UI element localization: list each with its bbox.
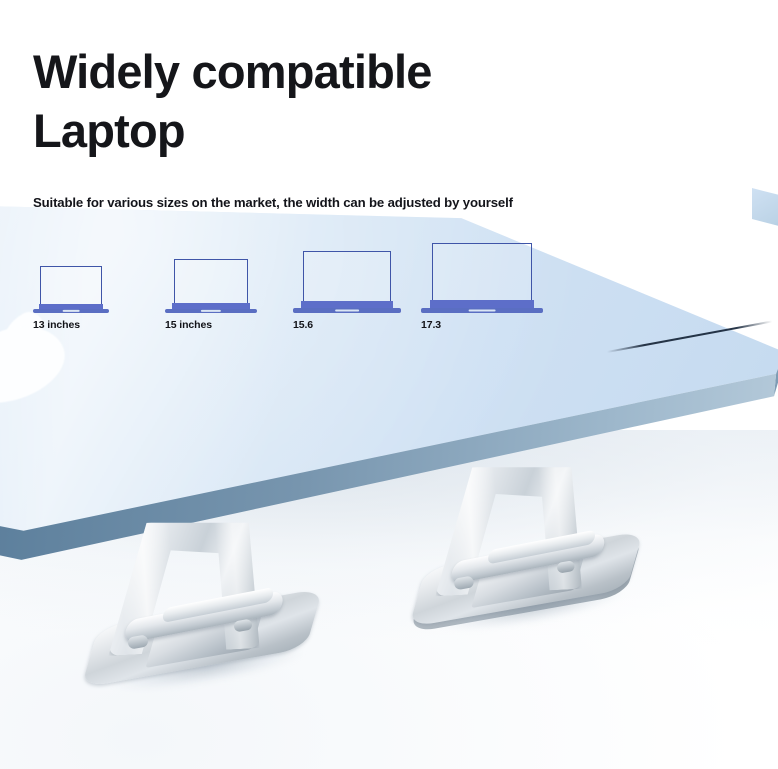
page-subtitle: Suitable for various sizes on the market…: [33, 195, 513, 210]
laptop-size-label: 17.3: [421, 319, 441, 331]
laptop-icon-base: [165, 309, 257, 313]
laptop-size-item: 15.6: [293, 251, 401, 331]
laptop-icon-screen: [432, 243, 532, 300]
laptop-icon: [421, 243, 543, 313]
laptop-icon-screen: [40, 266, 102, 304]
laptop-stand-right: [415, 465, 638, 632]
laptop-icon-base: [293, 308, 401, 313]
laptop-icon-base: [421, 308, 543, 313]
laptop-icon-screen: [303, 251, 391, 301]
product-image-stage: Widely compatible Laptop Suitable for va…: [0, 0, 778, 769]
laptop-icon: [165, 259, 257, 313]
laptop-stand-left: [88, 520, 328, 700]
laptop-size-list: 13 inches15 inches15.617.3: [33, 243, 543, 331]
laptop-icon-base: [33, 309, 109, 313]
laptop-icon-deck: [430, 300, 534, 308]
laptop-size-label: 15 inches: [165, 319, 212, 331]
laptop-icon: [33, 266, 109, 313]
laptop-size-item: 15 inches: [165, 259, 257, 331]
page-title-line-2: Laptop: [33, 101, 633, 160]
laptop-icon: [293, 251, 401, 313]
laptop-icon-screen: [174, 259, 248, 303]
laptop-size-label: 15.6: [293, 319, 313, 331]
page-title-line-1: Widely compatible: [33, 45, 432, 98]
laptop-size-item: 13 inches: [33, 266, 109, 331]
page-title: Widely compatible Laptop: [33, 42, 633, 160]
laptop-icon-deck: [301, 301, 393, 308]
laptop-size-item: 17.3: [421, 243, 543, 331]
laptop-size-label: 13 inches: [33, 319, 80, 331]
